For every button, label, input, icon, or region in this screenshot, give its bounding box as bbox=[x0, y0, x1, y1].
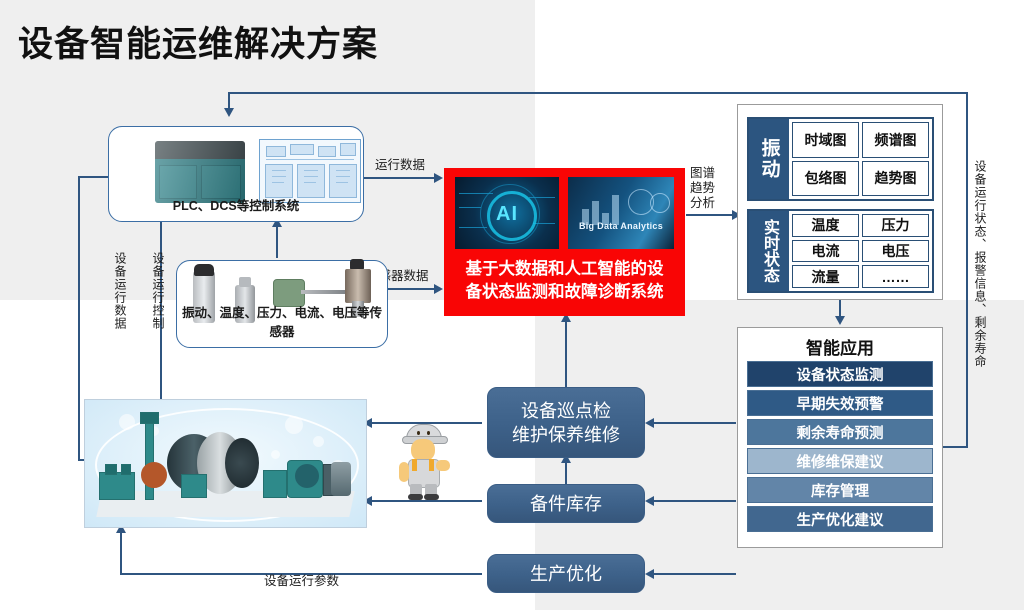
diagram-canvas: 设备智能运维解决方案 设备运行状态、报警信息、剩余寿命 设备运行数据 设备运行控… bbox=[0, 0, 1024, 610]
core-system-caption-line-1: 基于大数据和人工智能的设 bbox=[450, 258, 679, 281]
realtime-status-group: 实时状态 温度 压力 电流 电压 流量 …… bbox=[747, 209, 934, 293]
connector-apps-to-production bbox=[652, 573, 736, 575]
connector-apps-to-inspection bbox=[652, 422, 736, 424]
maintenance-worker-icon bbox=[398, 424, 456, 498]
connector-apps-to-right-trunk bbox=[943, 446, 968, 448]
application-item-production-optimization-advice[interactable]: 生产优化建议 bbox=[747, 506, 933, 532]
realtime-status-cell[interactable]: 流量 bbox=[792, 265, 859, 288]
realtime-status-group-label: 实时状态 bbox=[749, 211, 789, 291]
process-box-inspection[interactable]: 设备巡点检 维护保养维修 bbox=[487, 387, 645, 458]
realtime-status-cell[interactable]: 电压 bbox=[862, 240, 929, 263]
arrow-apps-to-spare bbox=[645, 496, 654, 506]
plc-controller-icon bbox=[155, 141, 245, 203]
process-box-inspection-line-2: 维护保养维修 bbox=[512, 423, 620, 447]
application-item-remaining-life-prediction[interactable]: 剩余寿命预测 bbox=[747, 419, 933, 445]
core-system-caption: 基于大数据和人工智能的设 备状态监测和故障诊断系统 bbox=[450, 258, 679, 304]
label-spectrum-line-1: 图谱 bbox=[690, 166, 715, 181]
application-item-maintenance-advice[interactable]: 维修维保建议 bbox=[747, 448, 933, 474]
vibration-cell[interactable]: 包络图 bbox=[792, 161, 859, 197]
arrow-monitor-to-apps bbox=[835, 316, 845, 325]
process-box-inspection-line-1: 设备巡点检 bbox=[521, 399, 611, 423]
ai-image-label: AI bbox=[455, 203, 559, 226]
realtime-status-cell[interactable]: 温度 bbox=[792, 214, 859, 237]
label-equipment-operating-parameters: 设备运行参数 bbox=[264, 574, 339, 588]
page-title: 设备智能运维解决方案 bbox=[18, 16, 378, 67]
label-status-alarm-life: 设备运行状态、报警信息、剩余寿命 bbox=[972, 160, 987, 368]
applications-panel: 智能应用 设备状态监测 早期失效预警 剩余寿命预测 维修维保建议 库存管理 生产… bbox=[737, 327, 943, 548]
applications-list: 设备状态监测 早期失效预警 剩余寿命预测 维修维保建议 库存管理 生产优化建议 bbox=[747, 361, 933, 532]
applications-title: 智能应用 bbox=[738, 334, 942, 359]
vibration-group: 振动 时域图 频谱图 包络图 趋势图 bbox=[747, 117, 934, 201]
arrow-operating-data bbox=[434, 173, 443, 183]
label-spectrum-line-3: 分析 bbox=[690, 196, 715, 211]
label-spectrum-line-2: 趋势 bbox=[690, 181, 715, 196]
connector-sensors-up bbox=[276, 222, 278, 258]
label-equipment-operating-data: 设备运行数据 bbox=[112, 252, 127, 330]
connector-left-trunk bbox=[78, 176, 80, 461]
equipment-photo bbox=[84, 399, 367, 528]
connector-operating-data bbox=[363, 177, 435, 179]
label-spectrum-trend-analysis: 图谱 趋势 分析 bbox=[690, 166, 715, 211]
realtime-status-cell[interactable]: 压力 bbox=[862, 214, 929, 237]
connector-left-trunk-to-plc bbox=[80, 176, 110, 178]
application-item-early-failure-warning[interactable]: 早期失效预警 bbox=[747, 390, 933, 416]
control-system-caption: PLC、DCS等控制系统 bbox=[109, 195, 363, 214]
core-system-caption-line-2: 备状态监测和故障诊断系统 bbox=[450, 281, 679, 304]
connector-spectrum-analysis bbox=[686, 214, 734, 216]
realtime-status-cell[interactable]: …… bbox=[862, 265, 929, 288]
bigdata-image-label: Big Data Analytics bbox=[568, 221, 674, 231]
realtime-status-cell[interactable]: 电流 bbox=[792, 240, 859, 263]
dcs-network-diagram-icon bbox=[259, 139, 361, 203]
connector-top-feedback bbox=[228, 92, 968, 94]
process-box-spare-parts[interactable]: 备件库存 bbox=[487, 484, 645, 523]
connector-spare-to-machine bbox=[370, 500, 482, 502]
monitoring-panel: 振动 时域图 频谱图 包络图 趋势图 实时状态 温度 压力 电流 电压 流量 …… bbox=[737, 104, 943, 300]
application-item-status-monitoring[interactable]: 设备状态监测 bbox=[747, 361, 933, 387]
connector-apps-to-spare bbox=[652, 500, 736, 502]
application-item-inventory-management[interactable]: 库存管理 bbox=[747, 477, 933, 503]
sensors-caption: 振动、温度、压力、电流、电压等传感器 bbox=[177, 302, 387, 340]
process-box-production-optimization[interactable]: 生产优化 bbox=[487, 554, 645, 593]
vibration-cell[interactable]: 趋势图 bbox=[862, 161, 929, 197]
control-system-box[interactable]: PLC、DCS等控制系统 bbox=[108, 126, 364, 222]
connector-params-up bbox=[120, 528, 122, 573]
ai-image: AI bbox=[455, 177, 559, 249]
connector-inspection-up bbox=[565, 317, 567, 387]
vibration-cell[interactable]: 频谱图 bbox=[862, 122, 929, 158]
label-equipment-operating-control: 设备运行控制 bbox=[150, 252, 165, 330]
label-operating-data: 运行数据 bbox=[375, 158, 425, 172]
connector-right-trunk bbox=[966, 92, 968, 447]
vibration-group-label: 振动 bbox=[749, 119, 789, 199]
vibration-cell[interactable]: 时域图 bbox=[792, 122, 859, 158]
arrow-into-control-system-top bbox=[224, 108, 234, 117]
process-box-spare-parts-label: 备件库存 bbox=[530, 492, 602, 516]
arrow-apps-to-production bbox=[645, 569, 654, 579]
bigdata-image: Big Data Analytics bbox=[568, 177, 674, 249]
sensors-box[interactable]: 振动、温度、压力、电流、电压等传感器 bbox=[176, 260, 388, 348]
arrow-sensor-data bbox=[434, 284, 443, 294]
arrow-apps-to-inspection bbox=[645, 418, 654, 428]
process-box-production-label: 生产优化 bbox=[530, 562, 602, 586]
core-system-box[interactable]: AI Big Data Analytics 基于大数据和人工智能的设 备状态监测… bbox=[444, 168, 685, 316]
